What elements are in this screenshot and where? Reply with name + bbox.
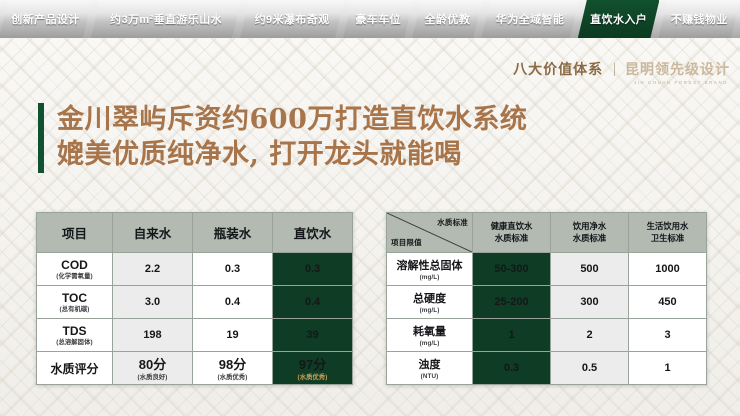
table-right-head: 水质标准 项目限值 健康直饮水 水质标准 饮用净水 水质标准 生活饮用水 卫生标… bbox=[387, 213, 707, 253]
cell-oxygen-healthy: 1 bbox=[473, 319, 551, 352]
cell-toc-bottledwater: 0.4 bbox=[193, 286, 273, 319]
row-label-oxygen-consumption: 耗氧量 (mg/L) bbox=[387, 319, 473, 352]
cell-score-bottledwater: 98分 (水质优秀) bbox=[193, 352, 273, 385]
col-header-directwater: 直饮水 bbox=[273, 213, 353, 253]
table-header-row: 水质标准 项目限值 健康直饮水 水质标准 饮用净水 水质标准 生活饮用水 卫生标… bbox=[387, 213, 707, 253]
tab-label: 约9米瀑布奇观 bbox=[255, 11, 330, 27]
brand-english-text: JIN CHUAN FOREST BRAND bbox=[513, 81, 728, 85]
tab-buzhuanqianwuye[interactable]: 不赚钱物业 bbox=[658, 0, 740, 38]
table-row: 水质评分 80分 (水质良好) 98分 (水质优秀) 97分 (水质优秀) bbox=[37, 352, 353, 385]
col-header-healthy-direct: 健康直饮水 水质标准 bbox=[473, 213, 551, 253]
cell-oxygen-purified: 2 bbox=[551, 319, 629, 352]
cell-toc-directwater: 0.4 bbox=[273, 286, 353, 319]
tab-chuizhiyouleshanshui[interactable]: 约3万m²垂直游乐山水 bbox=[91, 0, 241, 38]
row-label-text: 总硬度 bbox=[413, 293, 446, 305]
row-label-turbidity: 浊度 (NTU) bbox=[387, 352, 473, 385]
cell-score-directwater: 97分 (水质优秀) bbox=[273, 352, 353, 385]
cell-cod-directwater: 0.3 bbox=[273, 253, 353, 286]
tab-label: 直饮水入户 bbox=[590, 11, 647, 27]
slide-canvas: 创新产品设计 约3万m²垂直游乐山水 约9米瀑布奇观 豪车车位 全龄优教 华为全… bbox=[0, 0, 740, 416]
table-left-body: COD (化学需氧量) 2.2 0.3 0.3 TOC (总有机碳) 3.0 0… bbox=[37, 253, 353, 385]
cell-subtext: (水质优秀) bbox=[193, 374, 272, 382]
cell-tds-domestic: 1000 bbox=[629, 253, 707, 286]
cell-turbidity-purified: 0.5 bbox=[551, 352, 629, 385]
tab-label: 创新产品设计 bbox=[11, 11, 79, 27]
cell-value: 98分 bbox=[219, 357, 246, 372]
row-label-unit: (mg/L) bbox=[387, 307, 472, 315]
col-header-domestic: 生活饮用水 卫生标准 bbox=[629, 213, 707, 253]
cell-hardness-healthy: 25-200 bbox=[473, 286, 551, 319]
row-label-text: 浊度 bbox=[419, 359, 441, 371]
tab-label: 华为全域智能 bbox=[496, 11, 564, 27]
row-label-tds-dissolved: 溶解性总固体 (mg/L) bbox=[387, 253, 473, 286]
row-label-unit: (NTU) bbox=[387, 373, 472, 381]
table-right-body: 溶解性总固体 (mg/L) 50-300 500 1000 总硬度 (mg/L)… bbox=[387, 253, 707, 385]
brand-divider bbox=[614, 63, 615, 76]
row-label-text: 水质评分 bbox=[50, 362, 98, 376]
corner-header-cell: 水质标准 项目限值 bbox=[387, 213, 473, 253]
cell-hardness-domestic: 450 bbox=[629, 286, 707, 319]
tab-label: 约3万m²垂直游乐山水 bbox=[110, 11, 222, 27]
headline-lines: 金川翠屿斥资约600万打造直饮水系统 媲美优质纯净水, 打开龙头就能喝 bbox=[57, 103, 527, 173]
cell-oxygen-domestic: 3 bbox=[629, 319, 707, 352]
water-standards-table: 水质标准 项目限值 健康直饮水 水质标准 饮用净水 水质标准 生活饮用水 卫生标… bbox=[386, 212, 707, 385]
cell-subtext: (水质优秀) bbox=[273, 374, 352, 382]
col-header-line1: 健康直饮水 bbox=[491, 221, 533, 231]
row-label-hardness: 总硬度 (mg/L) bbox=[387, 286, 473, 319]
tab-zhiyinshuirhu[interactable]: 直饮水入户 bbox=[578, 0, 660, 38]
col-header-tapwater: 自来水 bbox=[113, 213, 193, 253]
col-header-line1: 生活饮用水 bbox=[647, 221, 689, 231]
table-left-head: 项目 自来水 瓶装水 直饮水 bbox=[37, 213, 353, 253]
row-label-tds: TDS (总溶解固体) bbox=[37, 319, 113, 352]
row-label-cod: COD (化学需氧量) bbox=[37, 253, 113, 286]
headline-line-2: 媲美优质纯净水, 打开龙头就能喝 bbox=[57, 138, 527, 173]
section-tabbar: 创新产品设计 约3万m²垂直游乐山水 约9米瀑布奇观 豪车车位 全龄优教 华为全… bbox=[0, 0, 740, 38]
brand-main-text: 八大价值体系 bbox=[513, 61, 603, 77]
cell-subtext: (水质良好) bbox=[113, 374, 192, 382]
row-label-text: TDS bbox=[63, 324, 87, 338]
cell-tds-bottledwater: 19 bbox=[193, 319, 273, 352]
cell-tds-directwater: 39 bbox=[273, 319, 353, 352]
corner-label-limit: 项目限值 bbox=[391, 237, 422, 248]
cell-turbidity-healthy: 0.3 bbox=[473, 352, 551, 385]
cell-value: 80分 bbox=[139, 357, 166, 372]
headline-accent-bar bbox=[38, 103, 44, 173]
col-header-line2: 水质标准 bbox=[495, 233, 529, 243]
water-comparison-table: 项目 自来水 瓶装水 直饮水 COD (化学需氧量) 2.2 0.3 0.3 T… bbox=[36, 212, 353, 385]
tab-quanlingyoujiao[interactable]: 全龄优教 bbox=[412, 0, 482, 38]
tab-separator bbox=[233, 0, 243, 38]
row-label-toc: TOC (总有机碳) bbox=[37, 286, 113, 319]
col-header-bottledwater: 瓶装水 bbox=[193, 213, 273, 253]
col-header-item: 项目 bbox=[37, 213, 113, 253]
col-header-line2: 水质标准 bbox=[573, 233, 607, 243]
table-header-row: 项目 自来水 瓶装水 直饮水 bbox=[37, 213, 353, 253]
tab-separator bbox=[405, 0, 415, 38]
tab-separator bbox=[84, 0, 94, 38]
tab-haochecheweigh[interactable]: 豪车车位 bbox=[343, 0, 413, 38]
cell-toc-tapwater: 3.0 bbox=[113, 286, 193, 319]
row-label-subtext: (总有机碳) bbox=[37, 306, 112, 314]
row-label-unit: (mg/L) bbox=[387, 340, 472, 348]
tab-separator bbox=[570, 0, 580, 38]
row-label-waterscore: 水质评分 bbox=[37, 352, 113, 385]
col-header-purified: 饮用净水 水质标准 bbox=[551, 213, 629, 253]
row-label-text: 耗氧量 bbox=[413, 326, 446, 338]
cell-score-tapwater: 80分 (水质良好) bbox=[113, 352, 193, 385]
cell-tds-purified: 500 bbox=[551, 253, 629, 286]
tab-huaweiquanyuzhineng[interactable]: 华为全域智能 bbox=[481, 0, 578, 38]
brand-sub-text: 昆明领先级设计 bbox=[625, 61, 730, 77]
table-row: 浊度 (NTU) 0.3 0.5 1 bbox=[387, 352, 707, 385]
cell-turbidity-domestic: 1 bbox=[629, 352, 707, 385]
brand-lockup: 八大价值体系 昆明领先级设计 JIN CHUAN FOREST BRAND bbox=[513, 62, 730, 85]
tab-label: 豪车车位 bbox=[355, 11, 401, 27]
headline-line-1: 金川翠屿斥资约600万打造直饮水系统 bbox=[57, 103, 527, 138]
tab-separator bbox=[336, 0, 346, 38]
cell-cod-bottledwater: 0.3 bbox=[193, 253, 273, 286]
cell-tds-tapwater: 198 bbox=[113, 319, 193, 352]
cell-value: 97分 bbox=[299, 357, 326, 372]
row-label-text: TOC bbox=[62, 291, 87, 305]
table-row: 总硬度 (mg/L) 25-200 300 450 bbox=[387, 286, 707, 319]
table-row: COD (化学需氧量) 2.2 0.3 0.3 bbox=[37, 253, 353, 286]
row-label-subtext: (化学需氧量) bbox=[37, 273, 112, 281]
corner-label-standard: 水质标准 bbox=[437, 217, 468, 228]
cell-tds-healthy: 50-300 bbox=[473, 253, 551, 286]
table-row: TDS (总溶解固体) 198 19 39 bbox=[37, 319, 353, 352]
tab-label: 全龄优教 bbox=[425, 11, 471, 27]
cell-hardness-purified: 300 bbox=[551, 286, 629, 319]
tab-pubuqiguan[interactable]: 约9米瀑布奇观 bbox=[240, 0, 344, 38]
row-label-text: COD bbox=[61, 258, 88, 272]
table-row: 溶解性总固体 (mg/L) 50-300 500 1000 bbox=[387, 253, 707, 286]
col-header-line1: 饮用净水 bbox=[573, 221, 607, 231]
table-row: 耗氧量 (mg/L) 1 2 3 bbox=[387, 319, 707, 352]
tab-separator bbox=[474, 0, 484, 38]
row-label-unit: (mg/L) bbox=[387, 274, 472, 282]
row-label-text: 溶解性总固体 bbox=[397, 260, 463, 272]
row-label-subtext: (总溶解固体) bbox=[37, 339, 112, 347]
table-row: TOC (总有机碳) 3.0 0.4 0.4 bbox=[37, 286, 353, 319]
col-header-line2: 卫生标准 bbox=[651, 233, 685, 243]
tab-label: 不赚钱物业 bbox=[671, 11, 728, 27]
cell-cod-tapwater: 2.2 bbox=[113, 253, 193, 286]
tab-chuangxinchanpinsheji[interactable]: 创新产品设计 bbox=[0, 0, 92, 38]
headline-block: 金川翠屿斥资约600万打造直饮水系统 媲美优质纯净水, 打开龙头就能喝 bbox=[38, 103, 527, 173]
